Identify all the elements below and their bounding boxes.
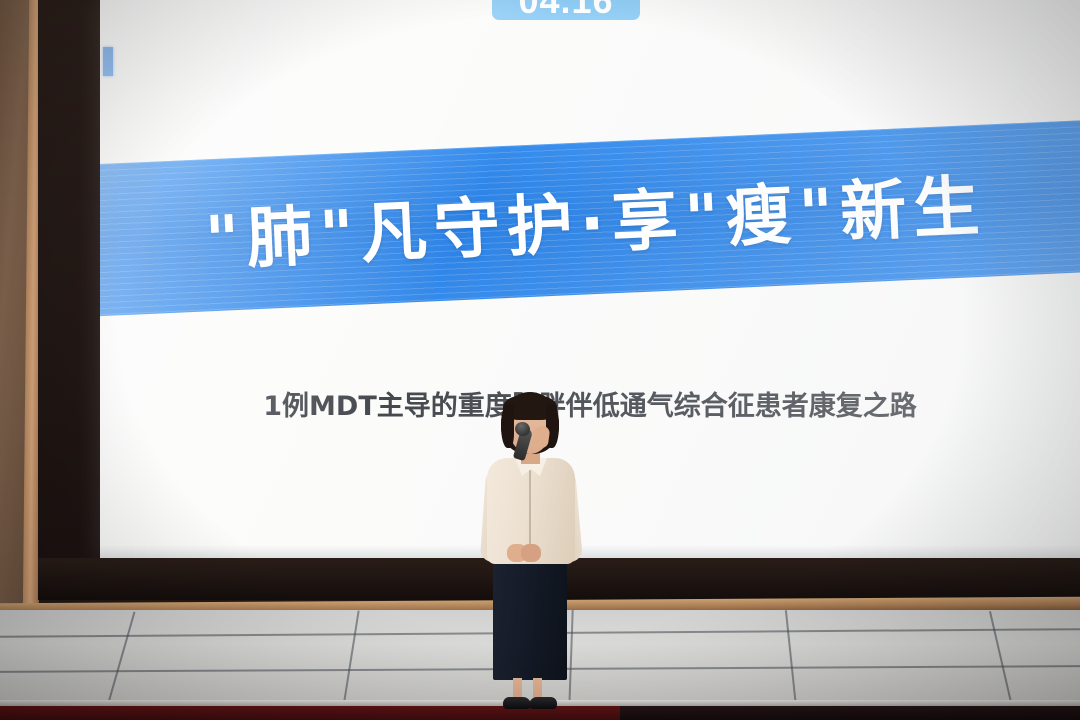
floor-seam [989,611,1013,707]
speaker-figure [455,392,605,710]
date-chip-label: 04.16 [518,0,613,20]
slide-title-row: "肺"凡守护·享"瘦"新生 [100,119,1080,317]
date-chip: 04.16 [492,0,640,20]
speaker-right-hand-clasp [521,544,541,562]
speaker-hair-left [501,404,514,448]
photo-scene: 04.16 "肺"凡守护·享"瘦"新生 1例MDT主导的重度肥胖伴低通气综合征患… [0,0,1080,720]
speaker-right-shoe [529,697,557,709]
speaker-skirt [493,556,567,680]
red-carpet-shadow [620,706,1080,720]
slide-title: "肺"凡守护·享"瘦"新生 [203,153,988,284]
floor-seam [342,610,359,707]
floor-seam [785,610,797,708]
floor-seam [107,612,136,707]
blue-corner-accent-icon [103,47,113,76]
title-banner-group: "肺"凡守护·享"瘦"新生 [100,74,1080,400]
speaker-left-shoe [503,697,531,709]
